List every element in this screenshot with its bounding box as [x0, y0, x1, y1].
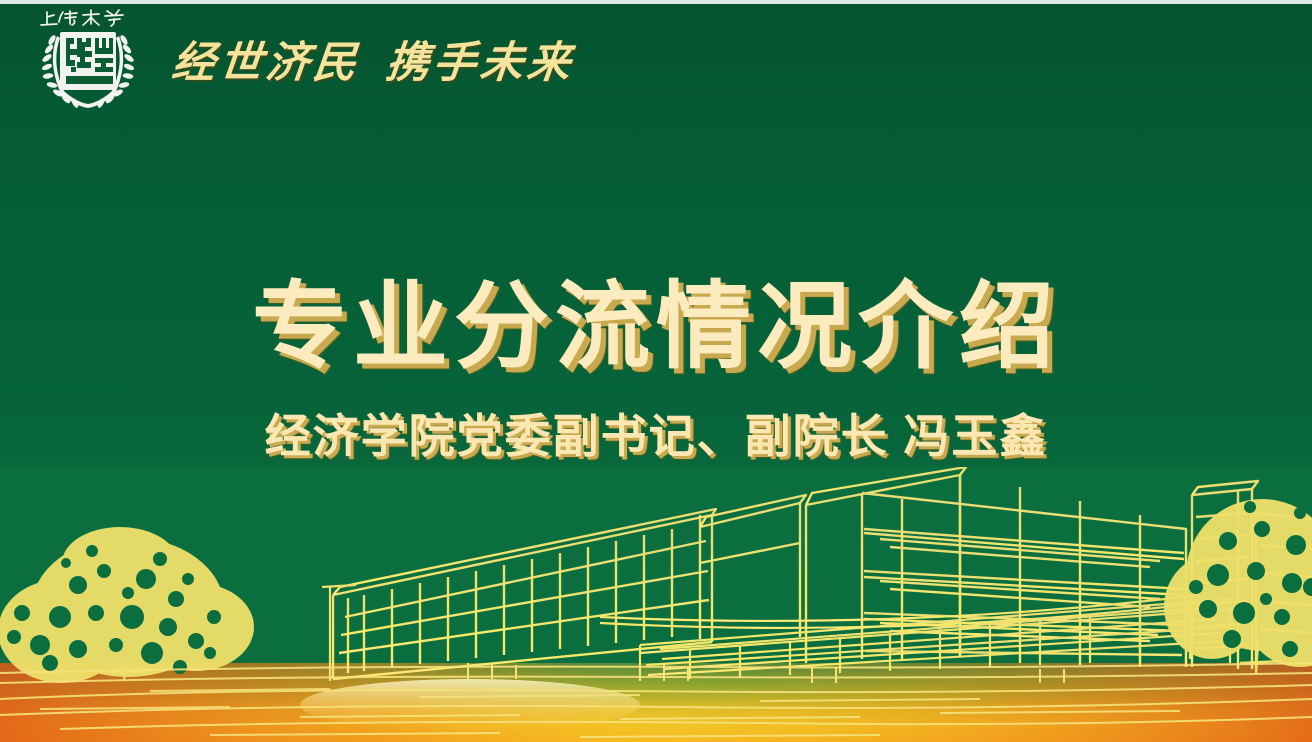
- university-motto-calligraphy: 经世济民携手未来: [170, 42, 577, 85]
- speaker-subtitle: 经济学院党委副书记、副院长 冯玉鑫: [0, 408, 1312, 466]
- page-title: 专业分流情况介绍: [0, 272, 1312, 382]
- top-edge-strip: [0, 0, 1312, 4]
- motto-part-1: 经世济民: [169, 38, 362, 88]
- title-slide: 经世济民携手未来 专业分流情况介绍 经济学院党委副书记、副院长 冯玉鑫: [0, 0, 1312, 742]
- shanghai-university-logo: [27, 2, 149, 122]
- motto-part-2: 携手未来: [383, 38, 576, 88]
- campus-building-line-art: [0, 467, 1312, 742]
